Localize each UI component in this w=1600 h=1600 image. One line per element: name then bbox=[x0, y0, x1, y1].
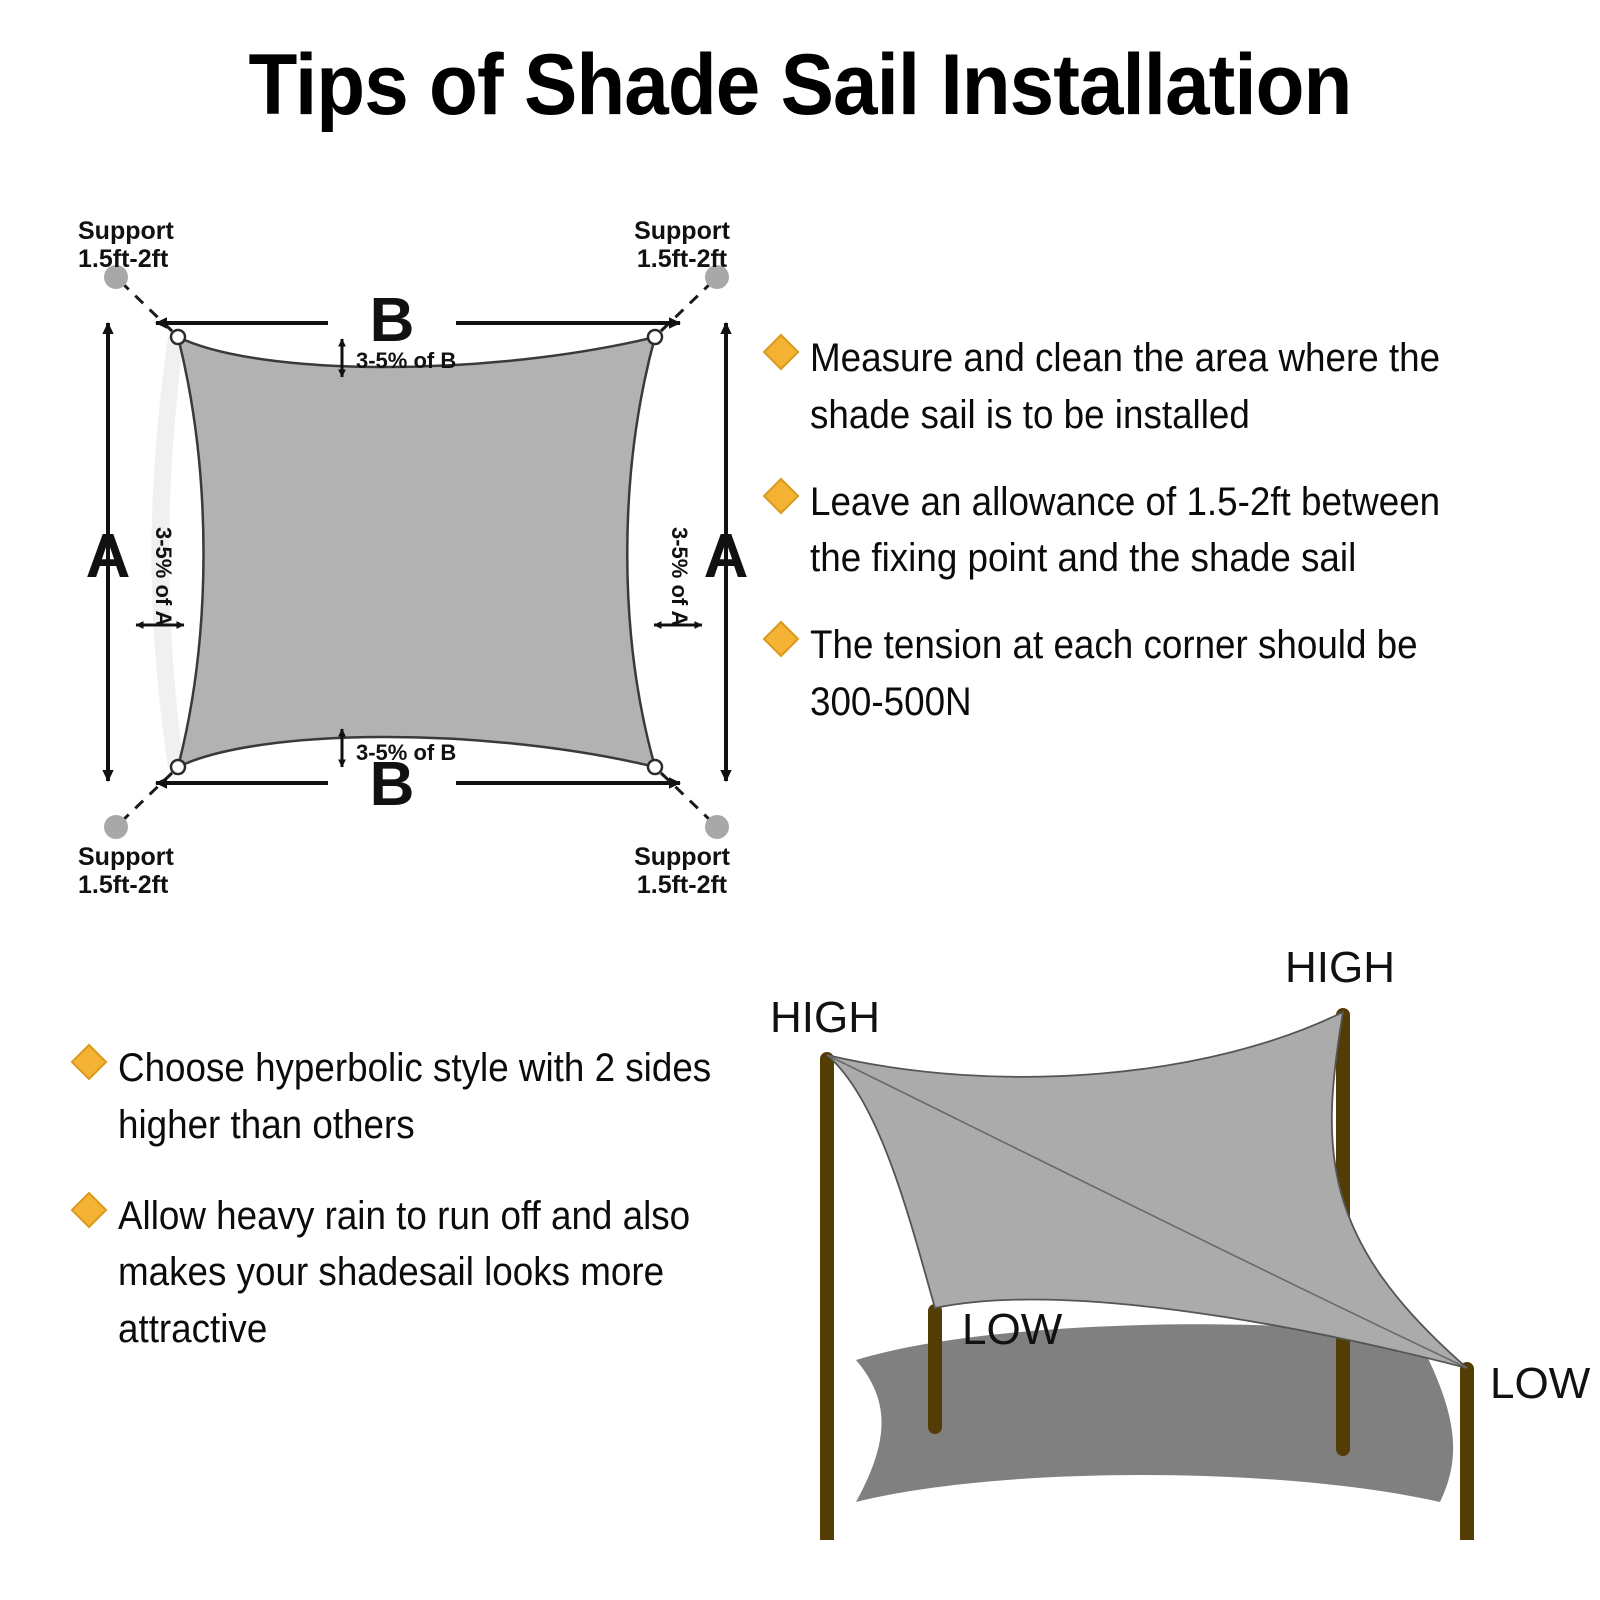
support-label-top-right-line1: Support bbox=[634, 217, 730, 245]
support-label-top-left-line2: 1.5ft-2ft bbox=[78, 245, 169, 273]
support-dot-bottom-left bbox=[104, 815, 128, 839]
square-sail-diagram: Support 1.5ft-2ft Support 1.5ft-2ft Supp… bbox=[60, 205, 780, 905]
support-line-bottom-left bbox=[122, 773, 172, 821]
corner-eyelet bbox=[648, 760, 662, 774]
corner-label-right-high: HIGH bbox=[1285, 943, 1395, 992]
support-label-bottom-left-line2: 1.5ft-2ft bbox=[78, 871, 169, 899]
support-label-top-right-line2: 1.5ft-2ft bbox=[637, 245, 728, 273]
infographic-page: Tips of Shade Sail Installation bbox=[0, 0, 1600, 1600]
pole-left-high bbox=[820, 1052, 834, 1540]
corner-label-right-low: LOW bbox=[1490, 1359, 1591, 1408]
sag-label-top: 3-5% of B bbox=[356, 348, 456, 373]
diamond-bullet-icon bbox=[763, 477, 800, 514]
corner-eyelet bbox=[171, 330, 185, 344]
list-item: Leave an allowance of 1.5-2ft between th… bbox=[768, 474, 1558, 588]
diamond-bullet-icon bbox=[763, 334, 800, 371]
support-dot-bottom-right bbox=[705, 815, 729, 839]
support-label-bottom-right-line2: 1.5ft-2ft bbox=[637, 871, 728, 899]
dimension-label-left-A: A bbox=[86, 522, 131, 591]
support-label-bottom-right-line1: Support bbox=[634, 843, 730, 871]
support-label-bottom-left-line1: Support bbox=[78, 843, 174, 871]
dimension-label-right-A: A bbox=[704, 522, 749, 591]
list-item: Choose hyperbolic style with 2 sides hig… bbox=[76, 1040, 776, 1154]
list-item: Allow heavy rain to run off and also mak… bbox=[76, 1188, 776, 1358]
hyperbolic-sail-diagram: HIGH HIGH LOW LOW bbox=[760, 900, 1600, 1540]
corner-eyelet bbox=[648, 330, 662, 344]
sail-panel-main bbox=[827, 1012, 1467, 1368]
corner-label-left-low: LOW bbox=[962, 1305, 1063, 1354]
corner-eyelet bbox=[171, 760, 185, 774]
sag-label-right: 3-5% of A bbox=[667, 527, 692, 627]
list-item-text: Measure and clean the area where the sha… bbox=[810, 330, 1498, 444]
list-item-text: Choose hyperbolic style with 2 sides hig… bbox=[118, 1040, 723, 1154]
corner-label-left-high: HIGH bbox=[770, 993, 880, 1042]
list-item-text: Allow heavy rain to run off and also mak… bbox=[118, 1188, 723, 1358]
list-item-text: The tension at each corner should be 300… bbox=[810, 617, 1498, 731]
list-item: The tension at each corner should be 300… bbox=[768, 617, 1558, 731]
sag-label-left: 3-5% of A bbox=[151, 527, 176, 627]
diamond-bullet-icon bbox=[71, 1044, 108, 1081]
support-label-top-left-line1: Support bbox=[78, 217, 174, 245]
support-line-bottom-right bbox=[661, 773, 711, 821]
list-item: Measure and clean the area where the sha… bbox=[768, 330, 1558, 444]
sag-label-bottom: 3-5% of B bbox=[356, 740, 456, 765]
pole-left-low bbox=[928, 1304, 942, 1434]
diamond-bullet-icon bbox=[71, 1191, 108, 1228]
tips-list-left: Choose hyperbolic style with 2 sides hig… bbox=[76, 1040, 776, 1392]
dimension-label-top-B: B bbox=[370, 286, 415, 355]
sail-ground-shadow bbox=[856, 1324, 1453, 1502]
sail-body bbox=[178, 337, 655, 767]
tips-list-right: Measure and clean the area where the sha… bbox=[768, 330, 1558, 761]
diamond-bullet-icon bbox=[763, 621, 800, 658]
list-item-text: Leave an allowance of 1.5-2ft between th… bbox=[810, 474, 1498, 588]
pole-right-low bbox=[1460, 1362, 1474, 1540]
page-title: Tips of Shade Sail Installation bbox=[56, 42, 1544, 128]
